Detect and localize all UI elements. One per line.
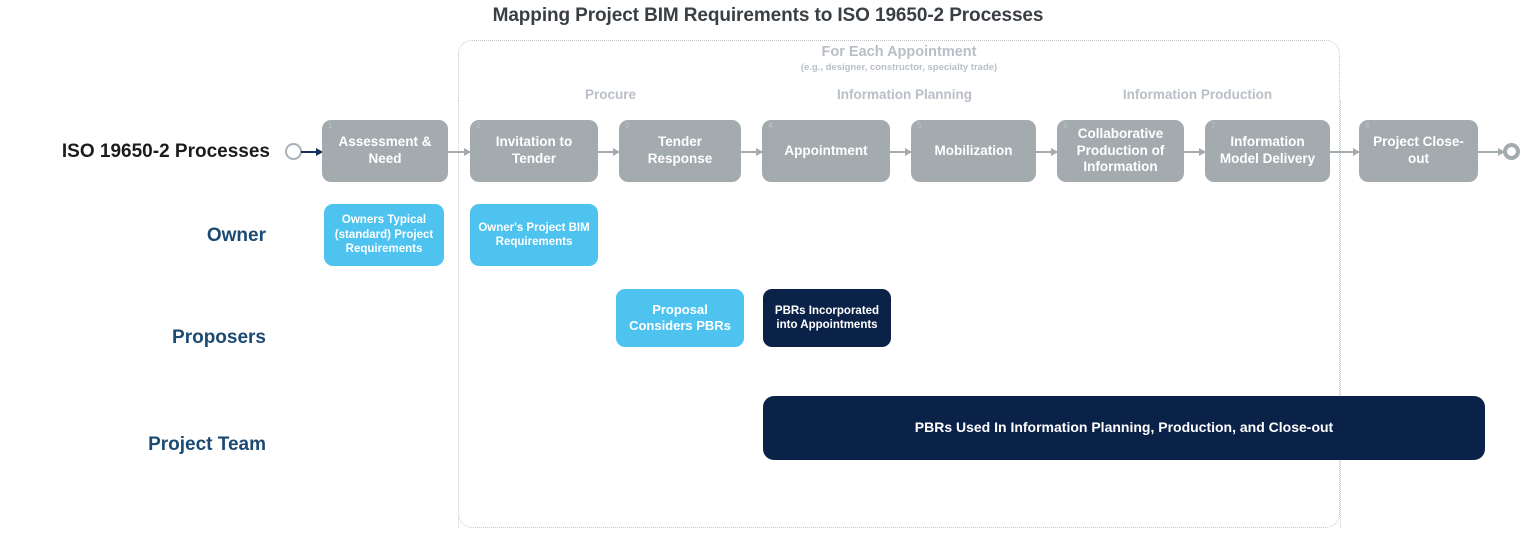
process-box-8[interactable]: 8 Project Close-out bbox=[1359, 120, 1478, 182]
process-number: 8 bbox=[1365, 122, 1369, 130]
process-label: Assessment & Need bbox=[328, 134, 442, 168]
arrow-p6-to-p7 bbox=[1184, 151, 1205, 153]
process-box-4[interactable]: 4 Appointment bbox=[762, 120, 890, 182]
phase-label-information-production: Information Production bbox=[1055, 87, 1340, 102]
process-box-5[interactable]: 5 Mobilization bbox=[911, 120, 1036, 182]
team-box-pbrs-used[interactable]: PBRs Used In Information Planning, Produ… bbox=[763, 396, 1485, 460]
lane-label-iso-processes: ISO 19650-2 Processes bbox=[0, 141, 270, 163]
phase-label-procure: Procure bbox=[468, 87, 753, 102]
process-label: Project Close-out bbox=[1365, 134, 1472, 168]
process-label: Tender Response bbox=[625, 134, 735, 168]
owner-box-project-bim-requirements[interactable]: Owner's Project BIM Requirements bbox=[470, 204, 598, 266]
arrow-p1-to-p2 bbox=[448, 151, 470, 153]
process-label: Collaborative Production of Information bbox=[1063, 126, 1178, 177]
process-number: 1 bbox=[328, 122, 332, 130]
process-box-1[interactable]: 1 Assessment & Need bbox=[322, 120, 448, 182]
arrow-p8-to-end bbox=[1478, 151, 1504, 153]
process-label: Information Model Delivery bbox=[1211, 134, 1324, 168]
page-title: Mapping Project BIM Requirements to ISO … bbox=[0, 5, 1536, 27]
arrow-p4-to-p5 bbox=[890, 151, 911, 153]
process-number: 3 bbox=[625, 122, 629, 130]
lane-label-owner: Owner bbox=[0, 225, 266, 247]
lane-label-project-team: Project Team bbox=[0, 434, 266, 456]
process-box-2[interactable]: 2 Invitation to Tender bbox=[470, 120, 598, 182]
for-each-appointment-heading: For Each Appointment bbox=[458, 44, 1340, 60]
arrow-p3-to-p4 bbox=[741, 151, 762, 153]
for-each-appointment-subheading: (e.g., designer, constructor, specialty … bbox=[458, 62, 1340, 73]
process-number: 6 bbox=[1063, 122, 1067, 130]
process-label: Invitation to Tender bbox=[476, 134, 592, 168]
proposer-box-pbrs-incorporated[interactable]: PBRs Incorporated into Appointments bbox=[763, 289, 891, 347]
arrow-p7-to-p8 bbox=[1330, 151, 1359, 153]
arrow-p5-to-p6 bbox=[1036, 151, 1057, 153]
process-box-7[interactable]: 7 Information Model Delivery bbox=[1205, 120, 1330, 182]
lane-label-proposers: Proposers bbox=[0, 327, 266, 349]
process-box-3[interactable]: 3 Tender Response bbox=[619, 120, 741, 182]
process-label: Appointment bbox=[784, 143, 867, 160]
process-box-6[interactable]: 6 Collaborative Production of Informatio… bbox=[1057, 120, 1184, 182]
start-node-icon bbox=[285, 143, 302, 160]
owner-box-typical-requirements[interactable]: Owners Typical (standard) Project Requir… bbox=[324, 204, 444, 266]
phase-label-information-planning: Information Planning bbox=[762, 87, 1047, 102]
arrow-start-to-p1 bbox=[301, 151, 322, 153]
arrow-p2-to-p3 bbox=[598, 151, 619, 153]
process-number: 4 bbox=[768, 122, 772, 130]
separator-right bbox=[1340, 100, 1341, 528]
end-node-icon bbox=[1503, 143, 1520, 160]
process-number: 7 bbox=[1211, 122, 1215, 130]
separator-left bbox=[458, 100, 459, 528]
process-number: 5 bbox=[917, 122, 921, 130]
proposer-box-proposal-considers-pbrs[interactable]: Proposal Considers PBRs bbox=[616, 289, 744, 347]
diagram-canvas: Mapping Project BIM Requirements to ISO … bbox=[0, 0, 1536, 543]
process-label: Mobilization bbox=[935, 143, 1013, 160]
process-number: 2 bbox=[476, 122, 480, 130]
